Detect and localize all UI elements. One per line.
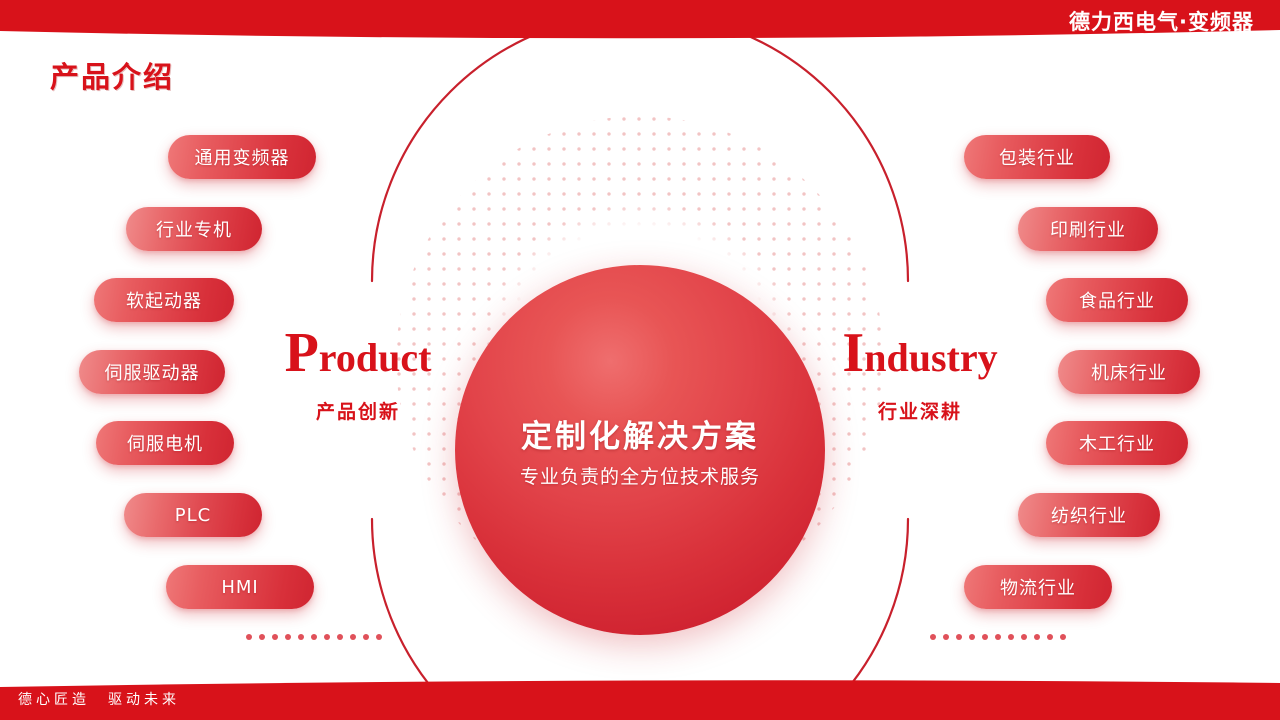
product-pill-label: HMI xyxy=(221,577,258,598)
industry-pill-5[interactable]: 纺织行业 xyxy=(1018,493,1160,537)
industry-pill-4[interactable]: 木工行业 xyxy=(1046,421,1188,465)
center-title: 定制化解决方案 xyxy=(521,411,759,456)
dot xyxy=(311,634,317,640)
product-pill-6[interactable]: HMI xyxy=(166,565,314,609)
section-heading-product: Product 产品创新 xyxy=(258,325,458,424)
product-heading-rest: roduct xyxy=(319,335,432,380)
product-pill-1[interactable]: 行业专机 xyxy=(126,207,262,251)
dot xyxy=(1008,634,1014,640)
industry-pill-label: 木工行业 xyxy=(1079,430,1155,456)
industry-pill-label: 物流行业 xyxy=(1000,574,1076,600)
dot xyxy=(982,634,988,640)
industry-pill-label: 印刷行业 xyxy=(1050,216,1126,242)
product-heading-initial: P xyxy=(285,322,319,384)
section-heading-industry: Industry 行业深耕 xyxy=(820,325,1020,424)
industry-heading-cn: 行业深耕 xyxy=(820,397,1020,424)
product-pill-2[interactable]: 软起动器 xyxy=(94,278,234,322)
product-pill-label: 行业专机 xyxy=(156,216,232,242)
footer-band xyxy=(0,674,1280,720)
dot xyxy=(376,634,382,640)
center-subtitle: 专业负责的全方位技术服务 xyxy=(520,462,760,489)
product-heading-cn: 产品创新 xyxy=(258,397,458,424)
product-pill-4[interactable]: 伺服电机 xyxy=(96,421,234,465)
dot xyxy=(1060,634,1066,640)
product-pill-0[interactable]: 通用变频器 xyxy=(168,135,316,179)
page-title: 产品介绍 xyxy=(50,54,174,96)
industry-pill-2[interactable]: 食品行业 xyxy=(1046,278,1188,322)
dot xyxy=(969,634,975,640)
dot xyxy=(995,634,1001,640)
product-pill-3[interactable]: 伺服驱动器 xyxy=(79,350,225,394)
dot xyxy=(285,634,291,640)
footer-slogan: 德心匠造 驱动未来 xyxy=(18,689,180,709)
industry-pill-label: 纺织行业 xyxy=(1051,502,1127,528)
center-sphere: 定制化解决方案 专业负责的全方位技术服务 xyxy=(455,265,825,635)
industry-heading-rest: ndustry xyxy=(864,335,997,380)
industry-heading-en: Industry xyxy=(820,325,1020,381)
product-pill-5[interactable]: PLC xyxy=(124,493,262,537)
dot xyxy=(337,634,343,640)
industry-pill-label: 机床行业 xyxy=(1091,359,1167,385)
slide-root: 德力西电气·变频器 产品介绍 定制化解决方案 专业负责的全方位技术服务 Prod… xyxy=(0,0,1280,720)
dot xyxy=(1034,634,1040,640)
dot xyxy=(246,634,252,640)
dot xyxy=(350,634,356,640)
industry-pill-1[interactable]: 印刷行业 xyxy=(1018,207,1158,251)
industry-heading-initial: I xyxy=(842,322,864,384)
dot xyxy=(298,634,304,640)
product-pill-label: PLC xyxy=(175,505,211,526)
dot xyxy=(324,634,330,640)
dots-decoration-left xyxy=(246,634,382,640)
dot xyxy=(956,634,962,640)
product-pill-label: 伺服电机 xyxy=(127,430,203,456)
brand-title: 德力西电气·变频器 xyxy=(1069,6,1254,36)
product-heading-en: Product xyxy=(258,325,458,381)
dot xyxy=(1021,634,1027,640)
product-pill-label: 软起动器 xyxy=(126,287,202,313)
product-pill-label: 通用变频器 xyxy=(195,144,290,170)
dot xyxy=(1047,634,1053,640)
industry-pill-label: 包装行业 xyxy=(999,144,1075,170)
dot xyxy=(363,634,369,640)
dot xyxy=(930,634,936,640)
industry-pill-label: 食品行业 xyxy=(1079,287,1155,313)
dot xyxy=(943,634,949,640)
dot xyxy=(272,634,278,640)
product-pill-label: 伺服驱动器 xyxy=(105,359,200,385)
dots-decoration-right xyxy=(930,634,1066,640)
industry-pill-3[interactable]: 机床行业 xyxy=(1058,350,1200,394)
industry-pill-6[interactable]: 物流行业 xyxy=(964,565,1112,609)
industry-pill-0[interactable]: 包装行业 xyxy=(964,135,1110,179)
dot xyxy=(259,634,265,640)
